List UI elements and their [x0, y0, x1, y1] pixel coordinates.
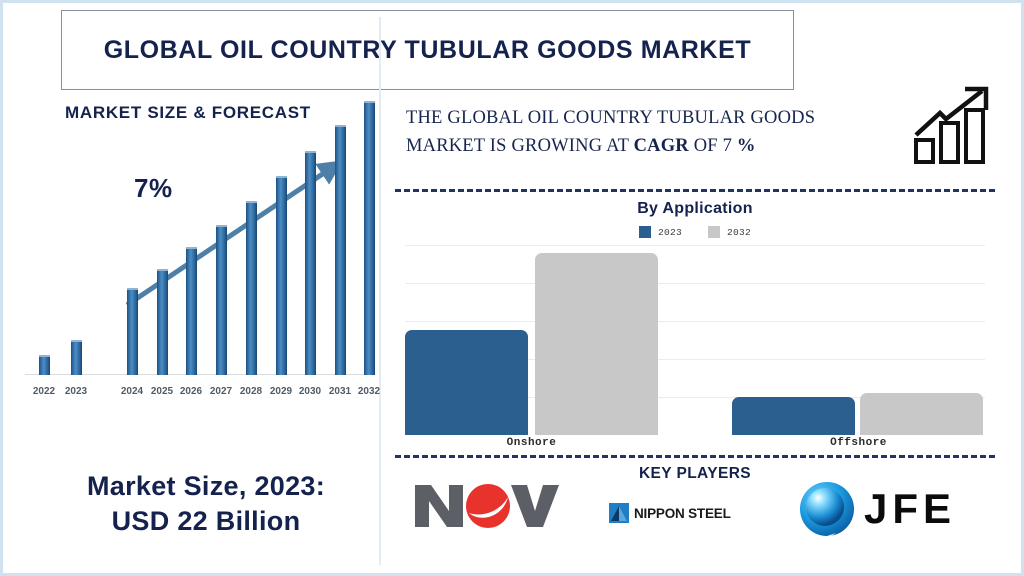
- forecast-bar-label: 2032: [352, 386, 386, 397]
- title-box: GLOBAL OIL COUNTRY TUBULAR GOODS MARKET: [61, 10, 794, 90]
- forecast-bar: [335, 125, 346, 375]
- application-bar: [860, 393, 983, 435]
- forecast-bar: [157, 269, 168, 375]
- forecast-bar-label: 2027: [204, 386, 238, 397]
- forecast-bar: [39, 355, 50, 375]
- legend-swatch-icon: [708, 226, 720, 238]
- application-bar: [405, 330, 528, 435]
- application-bar: [535, 253, 658, 435]
- nippon-steel-mark-icon: [609, 503, 629, 523]
- separator-bottom: [395, 455, 995, 458]
- forecast-bar-label: 2030: [293, 386, 327, 397]
- forecast-bar: [276, 176, 287, 375]
- legend-label: 2023: [658, 227, 682, 238]
- forecast-bar: [246, 201, 257, 375]
- nov-logo: [411, 475, 566, 537]
- forecast-bar: [216, 225, 227, 375]
- market-size-line-2: USD 22 Billion: [112, 506, 301, 536]
- legend-item[interactable]: 2032: [708, 226, 751, 238]
- legend-item[interactable]: 2023: [639, 226, 682, 238]
- market-statement: THE GLOBAL OIL COUNTRY TUBULAR GOODS MAR…: [406, 104, 876, 160]
- statement-text-2: OF 7: [689, 136, 737, 156]
- forecast-bar-label: 2026: [174, 386, 208, 397]
- forecast-bar: [364, 101, 375, 375]
- grid-line: [405, 245, 985, 246]
- application-category-label: Onshore: [405, 437, 658, 449]
- legend-label: 2032: [727, 227, 751, 238]
- by-application-legend: 20232032: [395, 226, 995, 238]
- market-size-callout: Market Size, 2023: USD 22 Billion: [41, 469, 371, 538]
- page-title: GLOBAL OIL COUNTRY TUBULAR GOODS MARKET: [90, 34, 765, 67]
- infographic-root: GLOBAL OIL COUNTRY TUBULAR GOODS MARKET …: [0, 0, 1024, 576]
- grid-line: [405, 283, 985, 284]
- grid-line: [405, 321, 985, 322]
- forecast-bar: [71, 340, 82, 375]
- market-size-line-1: Market Size, 2023:: [87, 471, 325, 501]
- forecast-bar: [127, 288, 138, 375]
- market-size-forecast-chart: 2022202320242025202620272028202920302031…: [17, 153, 377, 433]
- jfe-logo: JFE: [798, 480, 1003, 538]
- by-application-chart: [405, 245, 985, 435]
- jfe-label: JFE: [864, 488, 956, 530]
- legend-swatch-icon: [639, 226, 651, 238]
- jfe-mark-icon: [798, 480, 856, 538]
- nippon-steel-label: NIPPON STEEL: [634, 506, 731, 521]
- statement-bold-percent: %: [737, 136, 756, 156]
- forecast-bar-label: 2028: [234, 386, 268, 397]
- separator-top: [395, 189, 995, 192]
- forecast-bar: [186, 247, 197, 375]
- forecast-bar-label: 2023: [59, 386, 93, 397]
- bar-chart-up-arrow-icon: [910, 85, 1000, 167]
- application-bar: [732, 397, 855, 435]
- forecast-bar-label: 2024: [115, 386, 149, 397]
- market-size-forecast-heading: MARKET SIZE & FORECAST: [65, 103, 311, 123]
- forecast-bar-label: 2022: [27, 386, 61, 397]
- forecast-bar: [305, 151, 316, 375]
- nippon-steel-logo: NIPPON STEEL: [609, 500, 739, 526]
- statement-bold-cagr: CAGR: [634, 136, 689, 156]
- application-category-label: Offshore: [732, 437, 985, 449]
- panel-divider: [379, 17, 381, 565]
- by-application-title: By Application: [395, 200, 995, 218]
